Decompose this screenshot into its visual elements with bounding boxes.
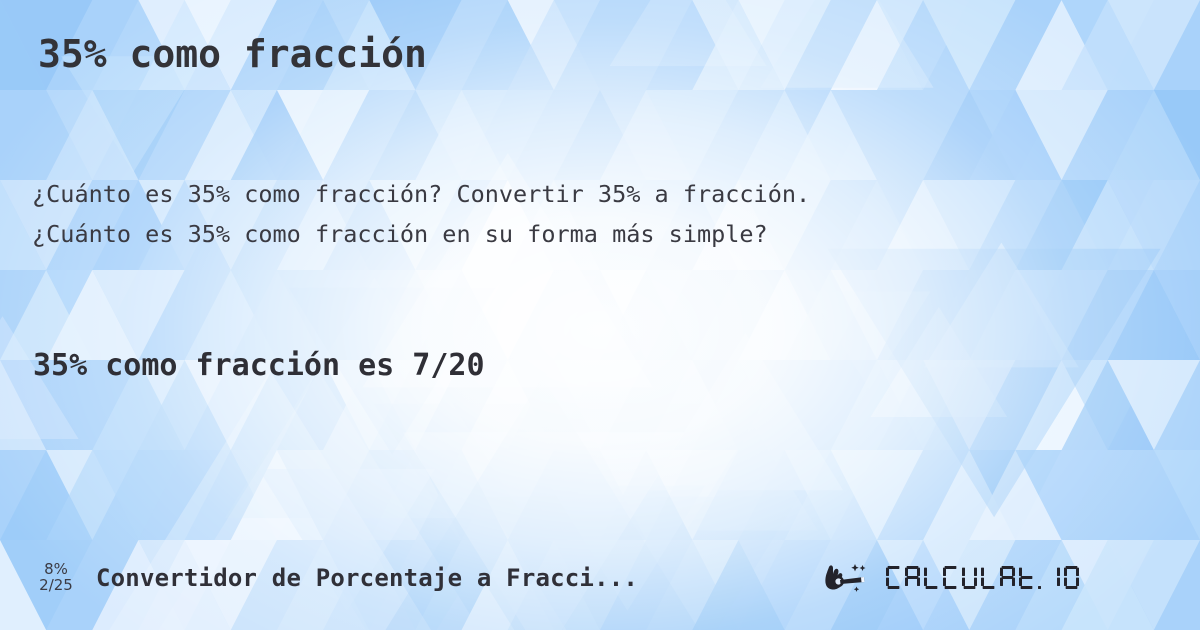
brand-wordmark (884, 558, 1174, 598)
percent-to-fraction-icon: 8% 2/25 (30, 556, 82, 600)
share-card: 35% como fracción ¿Cuánto es 35% como fr… (0, 0, 1200, 630)
page-title: 35% como fracción (38, 32, 427, 76)
brand-logo[interactable] (822, 556, 1184, 600)
intro-paragraph: ¿Cuánto es 35% como fracción? Convertir … (32, 174, 810, 254)
intro-line-2: ¿Cuánto es 35% como fracción en su forma… (32, 214, 810, 254)
intro-line-1: ¿Cuánto es 35% como fracción? Convertir … (32, 174, 810, 214)
footer-bar: 8% 2/25 Convertidor de Porcentaje a Frac… (0, 552, 1200, 604)
card-content: 35% como fracción ¿Cuánto es 35% como fr… (0, 0, 1200, 630)
tool-title: Convertidor de Porcentaje a Fracci... (96, 564, 638, 592)
answer-statement: 35% como fracción es 7/20 (33, 348, 485, 383)
percent-to-fraction-icon-fraction: 2/25 (39, 578, 73, 594)
hand-magic-wand-icon (822, 558, 882, 598)
